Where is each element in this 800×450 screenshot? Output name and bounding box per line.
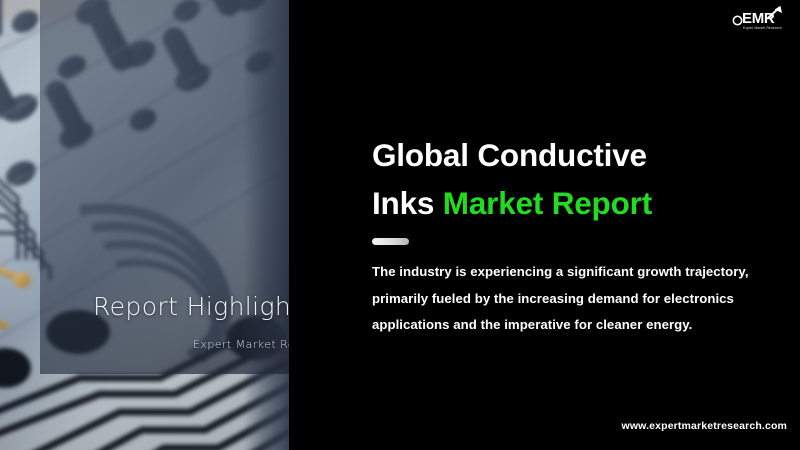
- card-title: Report Highlights: [93, 292, 315, 321]
- headline-line-2-accent: Market Report: [443, 185, 652, 221]
- svg-text:Expert Market Research: Expert Market Research: [743, 26, 782, 30]
- emr-logo[interactable]: EMR Expert Market Research: [732, 4, 788, 34]
- headline-line-2-plain: Inks: [372, 185, 443, 221]
- content-panel: EMR Expert Market Research Global Conduc…: [289, 0, 800, 450]
- report-highlights-card: Report Highlights Expert Market Research: [40, 0, 326, 374]
- report-highlight-banner: Report Highlights Expert Market Research…: [0, 0, 800, 450]
- card-inner: Report Highlights Expert Market Research: [40, 0, 326, 374]
- svg-text:EMR: EMR: [742, 10, 775, 27]
- page-title: Global Conductive Inks Market Report: [372, 131, 762, 227]
- title-divider: [372, 238, 409, 245]
- headline-line-1: Global Conductive: [372, 137, 647, 173]
- summary-paragraph: The industry is experiencing a significa…: [372, 259, 764, 339]
- website-url[interactable]: www.expertmarketresearch.com: [622, 420, 787, 432]
